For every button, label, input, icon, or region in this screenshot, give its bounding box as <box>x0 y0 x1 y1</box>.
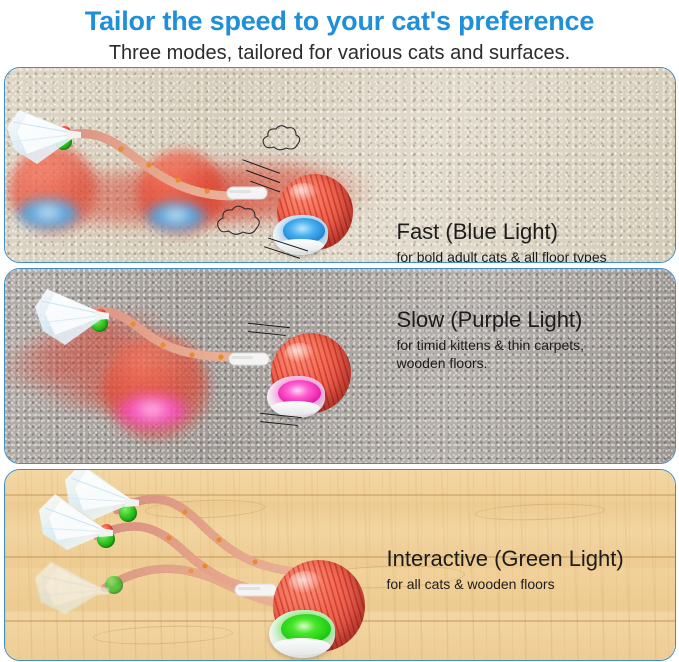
dust-puff-icon <box>211 204 267 244</box>
ghost-led-purple <box>117 395 187 426</box>
mode-subtitle: for timid kittens & thin carpets, wooden… <box>397 336 597 372</box>
ball-highlight <box>285 343 314 362</box>
mode-panel-interactive[interactable]: Interactive (Green Light) for all cats &… <box>4 469 676 661</box>
mode-title: Slow (Purple Light) <box>397 306 597 333</box>
cat-toy-ball-main <box>277 174 353 250</box>
mode-title: Fast (Blue Light) <box>397 218 653 245</box>
dust-puff-icon <box>257 124 305 158</box>
base-rim <box>271 401 321 415</box>
base-rim <box>273 638 330 654</box>
feather-wand-ghost <box>25 556 113 618</box>
ball-highlight <box>290 183 317 201</box>
mode-title: Interactive (Green Light) <box>387 545 597 572</box>
mode-subtitle: for all cats & wooden floors <box>387 575 597 593</box>
header: Tailor the speed to your cat's preferenc… <box>0 0 679 67</box>
feather-wand <box>4 108 87 170</box>
cat-toy-ball-main <box>271 333 351 413</box>
mode-subtitle: for bold adult cats & all floor types <box>397 248 653 263</box>
ball-base <box>269 610 335 658</box>
panel-caption-fast: Fast (Blue Light) for bold adult cats & … <box>397 218 653 263</box>
mode-panel-slow[interactable]: Slow (Purple Light) for timid kittens & … <box>4 268 676 464</box>
mode-panel-fast[interactable]: Fast (Blue Light) for bold adult cats & … <box>4 67 676 263</box>
mode-panel-list: Fast (Blue Light) for bold adult cats & … <box>0 67 679 661</box>
page-title: Tailor the speed to your cat's preferenc… <box>0 4 679 38</box>
cat-toy-ball-main <box>273 560 365 652</box>
feather-wand <box>27 287 115 349</box>
base-rim <box>277 239 324 252</box>
feather-wand <box>29 492 117 554</box>
panel-caption-interactive: Interactive (Green Light) for all cats &… <box>387 545 597 593</box>
ball-base <box>267 376 325 418</box>
panel-caption-slow: Slow (Purple Light) for timid kittens & … <box>397 306 597 372</box>
page-subtitle: Three modes, tailored for various cats a… <box>0 39 679 67</box>
